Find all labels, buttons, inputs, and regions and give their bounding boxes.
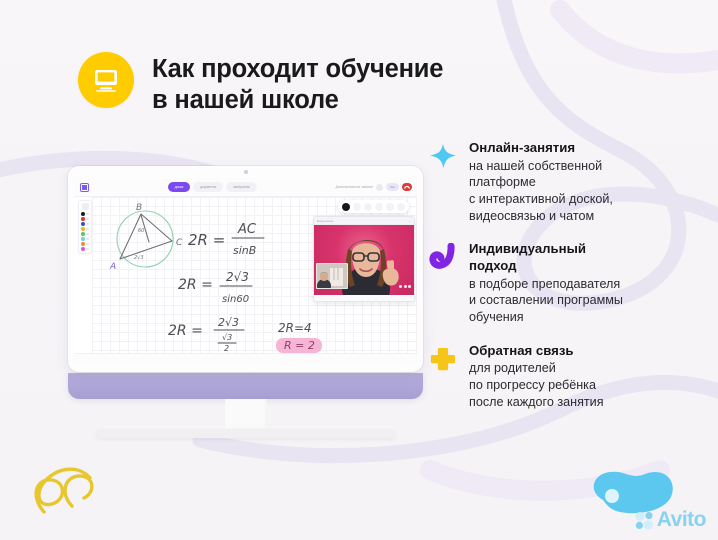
blob-decoration: [594, 472, 673, 513]
video-panel-footer: [314, 295, 414, 302]
svg-text:C: C: [176, 238, 183, 248]
chat-button[interactable]: Чат: [386, 183, 399, 191]
pen-tool-icon[interactable]: [342, 203, 350, 211]
app-tabs: доска документы материалы: [168, 182, 257, 192]
plus-icon: [428, 345, 458, 373]
lock-icon[interactable]: [82, 203, 89, 210]
session-label: Дополнительное занятие: [336, 185, 373, 189]
svg-text:2R =: 2R =: [168, 323, 203, 339]
star-icon: [428, 142, 458, 170]
app-toolbar: доска документы материалы Дополнительное…: [74, 178, 417, 197]
svg-text:2R =: 2R =: [178, 277, 213, 293]
student-video-pip[interactable]: [316, 263, 348, 289]
svg-text:B: B: [136, 203, 142, 213]
feature-list: Онлайн-занятия на нашей собственной плат…: [428, 140, 696, 427]
image-tool-icon[interactable]: [386, 203, 394, 211]
webcam-dot: [244, 170, 248, 174]
tab-materials[interactable]: материалы: [226, 182, 257, 192]
text-tool-icon[interactable]: [375, 203, 383, 211]
svg-text:√3: √3: [222, 333, 232, 342]
svg-text:AC: AC: [237, 222, 257, 237]
monitor-stand-neck: [225, 399, 267, 429]
svg-text:sin60: sin60: [222, 294, 249, 305]
palette-swatch[interactable]: [81, 242, 89, 246]
phone-hangup-icon[interactable]: [402, 183, 412, 191]
palette-swatch[interactable]: [81, 247, 89, 251]
svg-text:sinB: sinB: [233, 244, 256, 257]
avito-logo-icon: [635, 511, 654, 530]
feature-title: Онлайн-занятия: [469, 140, 696, 157]
video-panel-menu-icon[interactable]: ⌄: [408, 219, 411, 223]
video-more-icon[interactable]: [399, 285, 411, 288]
monitor-stand-base: [96, 429, 396, 438]
avito-wordmark: Avito: [657, 508, 706, 532]
page-header: Как проходит обучение в нашей школе: [78, 52, 443, 116]
board-logo-icon: [80, 183, 89, 192]
tab-documents[interactable]: документы: [193, 182, 223, 192]
palette-swatch[interactable]: [81, 212, 89, 216]
monitor-body: доска документы материалы Дополнительное…: [68, 166, 423, 372]
page-title: Как проходит обучение в нашей школе: [152, 54, 443, 116]
math-answer: R = 2: [284, 339, 315, 352]
svg-text:2: 2: [224, 344, 229, 353]
monitor-icon: [78, 52, 134, 108]
move-tool-icon[interactable]: [397, 203, 405, 211]
video-call-panel[interactable]: Видеосвязь ⌄: [313, 216, 415, 302]
svg-text:A: A: [109, 262, 116, 272]
gear-icon[interactable]: [376, 184, 383, 191]
video-panel-header: Видеосвязь ⌄: [314, 217, 414, 225]
squiggle-decoration: [36, 469, 92, 512]
app-status-bar: [74, 353, 417, 364]
svg-text:2√3: 2√3: [218, 316, 239, 329]
palette-swatch[interactable]: [81, 237, 89, 241]
feature-feedback: Обратная связь для родителей по прогресс…: [428, 343, 696, 411]
palette-swatch[interactable]: [81, 222, 89, 226]
toolbar-right-group: Дополнительное занятие Чат: [336, 183, 412, 191]
svg-text:2√3: 2√3: [226, 270, 249, 284]
feature-online-lessons: Онлайн-занятия на нашей собственной плат…: [428, 140, 696, 224]
svg-text:60: 60: [138, 228, 144, 234]
eraser-tool-icon[interactable]: [353, 203, 361, 211]
monitor-chin: [68, 373, 423, 399]
crescent-icon: [428, 243, 458, 271]
feature-body: в подборе преподавателя и составлении пр…: [469, 276, 696, 326]
poster-canvas: Как проходит обучение в нашей школе доск…: [0, 0, 718, 540]
avito-watermark: Avito: [635, 508, 706, 532]
feature-body: для родителей по прогрессу ребёнка после…: [469, 360, 696, 410]
svg-text:2√3: 2√3: [134, 255, 144, 261]
drawing-tools[interactable]: [338, 200, 409, 213]
palette-swatch[interactable]: [81, 217, 89, 221]
shapes-tool-icon[interactable]: [364, 203, 372, 211]
monitor-mockup: доска документы материалы Дополнительное…: [68, 166, 423, 438]
tab-board[interactable]: доска: [168, 182, 190, 192]
feature-body: на нашей собственной платформе с интерак…: [469, 158, 696, 224]
feature-individual-approach: Индивидуальный подход в подборе преподав…: [428, 241, 696, 325]
feature-title: Обратная связь: [469, 343, 696, 360]
palette-swatch[interactable]: [81, 232, 89, 236]
teacher-video-feed: [314, 225, 414, 295]
whiteboard-app: доска документы материалы Дополнительное…: [74, 178, 417, 364]
video-panel-title: Видеосвязь: [317, 219, 333, 223]
palette-swatch[interactable]: [81, 227, 89, 231]
svg-text:2R=4: 2R=4: [278, 321, 312, 335]
feature-title: Индивидуальный подход: [469, 241, 696, 275]
color-palette[interactable]: [78, 200, 92, 254]
svg-text:2R =: 2R =: [188, 231, 225, 249]
